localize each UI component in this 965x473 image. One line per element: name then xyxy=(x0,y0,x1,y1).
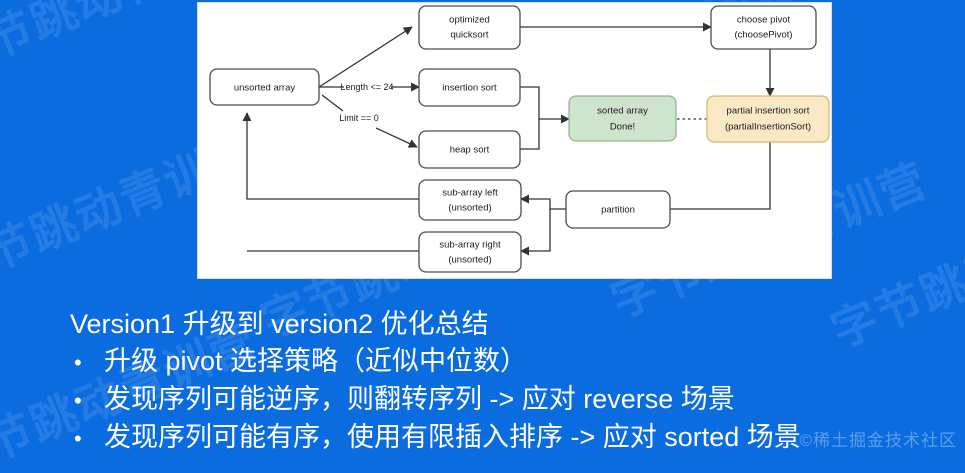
edge-unsorted-to-quicksort xyxy=(319,27,412,87)
node-partition[interactable]: partition xyxy=(566,191,670,228)
node-label: (choosePivot) xyxy=(734,30,792,41)
node-label: heap sort xyxy=(450,145,490,156)
bullet-marker-icon: • xyxy=(70,420,104,457)
summary-text-block: Version1 升级到 version2 优化总结 • 升级 pivot 选择… xyxy=(70,305,960,457)
node-heap-sort[interactable]: heap sort xyxy=(419,131,520,168)
node-optimized-quicksort[interactable]: optimized quicksort xyxy=(419,6,520,49)
summary-title: Version1 升级到 version2 优化总结 xyxy=(70,305,960,343)
list-item: • 发现序列可能有序，使用有限插入排序 -> 应对 sorted 场景 xyxy=(70,419,960,457)
edge-partition-to-subleft xyxy=(521,199,566,209)
node-label: optimized xyxy=(449,15,490,26)
edge-subleft-back-to-unsorted xyxy=(247,113,419,199)
edge-insertion-to-sorted xyxy=(520,87,569,119)
list-item: • 发现序列可能逆序，则翻转序列 -> 应对 reverse 场景 xyxy=(70,381,960,419)
node-sorted-array[interactable]: sorted array Done! xyxy=(569,96,676,141)
bullet-text: 发现序列可能有序，使用有限插入排序 -> 应对 sorted 场景 xyxy=(104,419,960,456)
node-label: (partialInsertionSort) xyxy=(725,122,811,133)
edge-label-length-condition: Length <= 24 xyxy=(340,82,393,92)
node-label: insertion sort xyxy=(442,83,497,94)
node-choose-pivot[interactable]: choose pivot (choosePivot) xyxy=(711,6,816,49)
bullet-text: 发现序列可能逆序，则翻转序列 -> 应对 reverse 场景 xyxy=(104,381,960,418)
edge-unsorted-to-heapsort xyxy=(376,128,417,147)
edge-partition-to-subright xyxy=(521,209,550,251)
bullet-marker-icon: • xyxy=(70,344,104,381)
bullet-text: 升级 pivot 选择策略（近似中位数） xyxy=(104,343,960,380)
node-unsorted-array[interactable]: unsorted array xyxy=(210,69,319,105)
node-sub-array-right[interactable]: sub-array right (unsorted) xyxy=(419,232,521,272)
quicksort-flow-diagram: unsorted array optimized quicksort inser… xyxy=(197,2,832,279)
node-partial-insertion-sort[interactable]: partial insertion sort (partialInsertion… xyxy=(707,96,829,142)
node-label: sorted array xyxy=(597,106,648,117)
bullet-marker-icon: • xyxy=(70,382,104,419)
node-label: partition xyxy=(601,205,635,216)
node-label: partial insertion sort xyxy=(727,106,810,117)
diagram-canvas: unsorted array optimized quicksort inser… xyxy=(198,3,831,278)
node-insertion-sort[interactable]: insertion sort xyxy=(419,69,520,106)
node-label: quicksort xyxy=(450,30,488,41)
node-sub-array-left[interactable]: sub-array left (unsorted) xyxy=(419,180,521,220)
list-item: • 升级 pivot 选择策略（近似中位数） xyxy=(70,343,960,381)
edge-label-limit-condition: Limit == 0 xyxy=(339,113,379,123)
edge-heapsort-to-sorted xyxy=(520,119,539,149)
slide-root: 字节跳动青训营 字节跳动青训营 字节跳动青训营 字节跳动青训营 字节跳动青训营 … xyxy=(0,0,965,473)
node-label: sub-array left xyxy=(442,188,498,199)
node-label: (unsorted) xyxy=(448,203,491,214)
node-label: sub-array right xyxy=(439,240,501,251)
node-label: unsorted array xyxy=(234,83,296,94)
node-label: choose pivot xyxy=(737,15,791,26)
edge-unsorted-stub-down xyxy=(322,95,343,111)
node-label: Done! xyxy=(610,122,635,133)
node-label: (unsorted) xyxy=(448,255,491,266)
